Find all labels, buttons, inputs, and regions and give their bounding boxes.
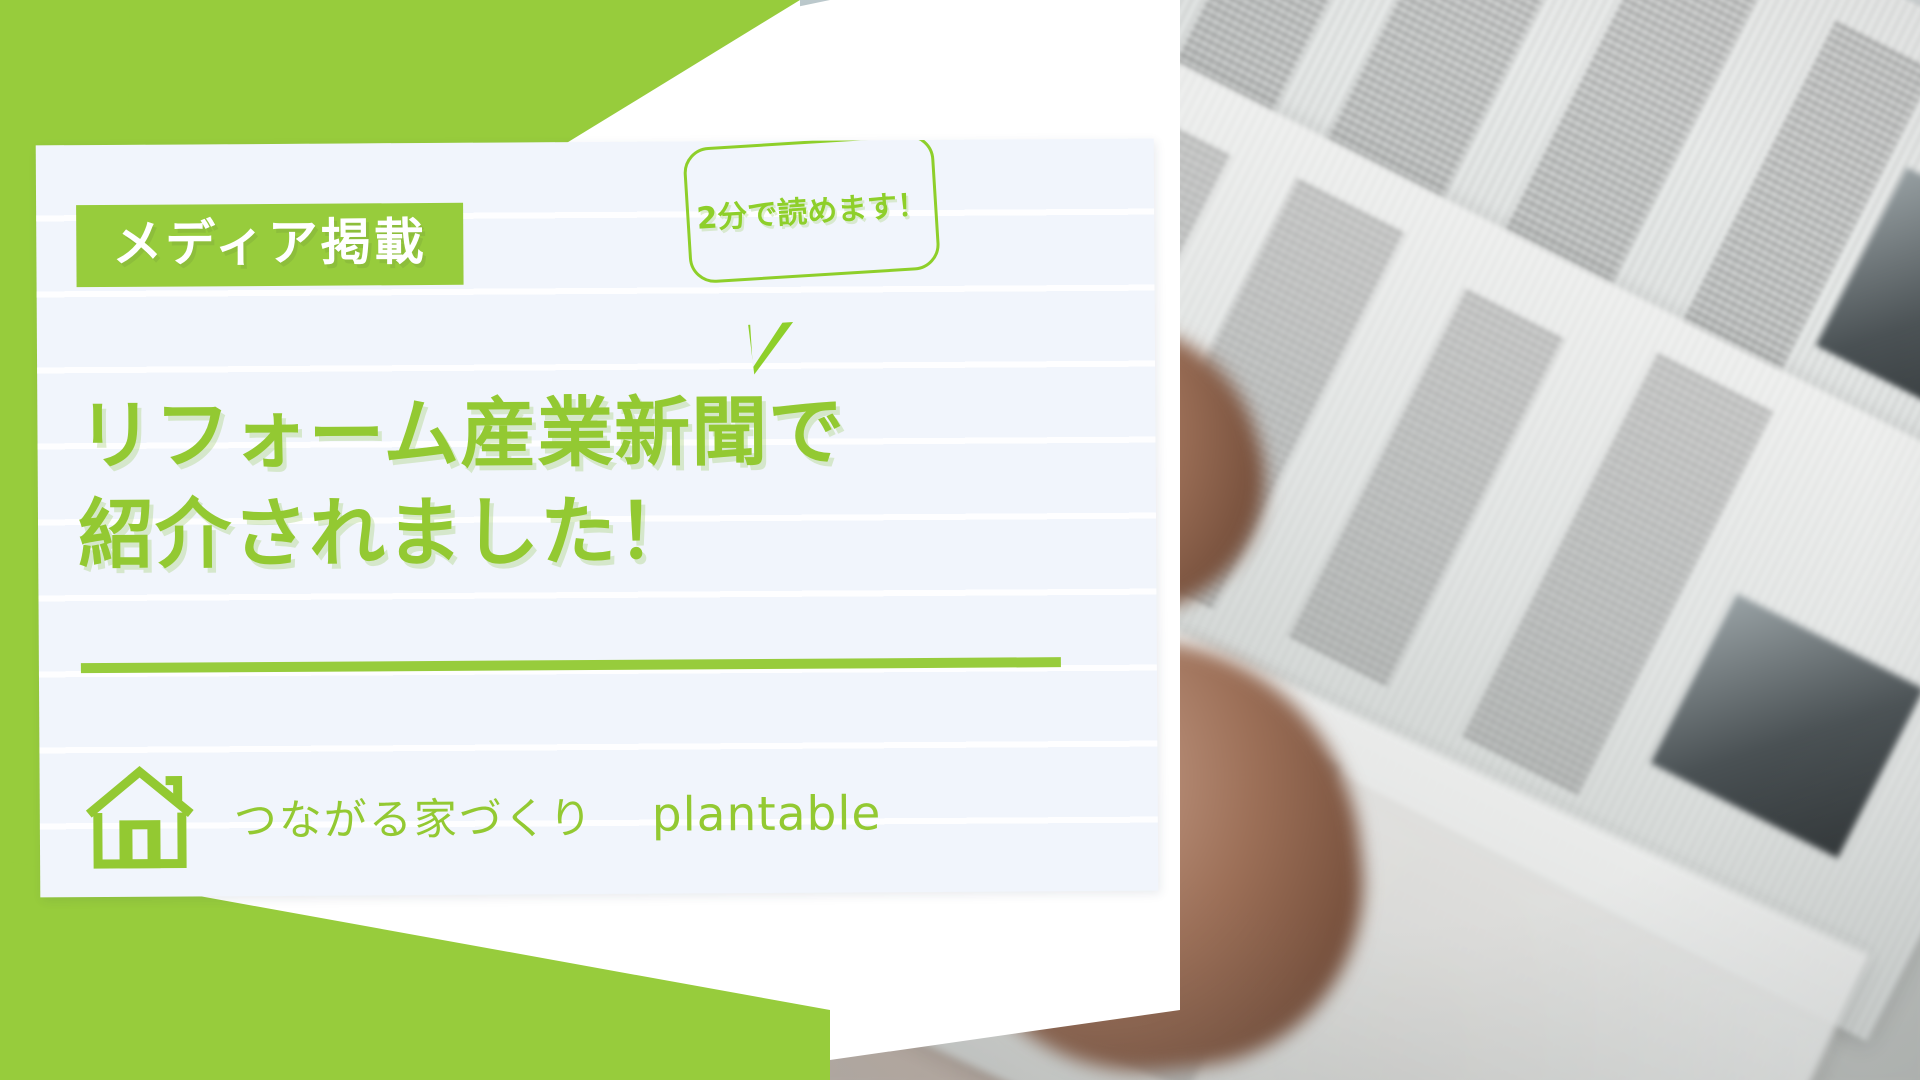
- media-feature-badge: メディア掲載: [76, 203, 463, 287]
- brand-logo-row: つながる家づくり plantable: [84, 760, 882, 871]
- page-title-line-1: リフォーム産業新聞で: [77, 382, 845, 485]
- brand-tagline: つながる家づくり: [234, 784, 594, 848]
- media-feature-badge-label: メディア掲載: [112, 213, 427, 273]
- poster-canvas: メディア掲載 2分で読めます！ リフォーム産業新聞で 紹介されました！: [0, 0, 1920, 1080]
- house-icon: [84, 764, 197, 871]
- read-time-label: 2分で読めます！: [688, 179, 935, 238]
- page-title-line-2: 紹介されました！: [78, 481, 846, 584]
- lined-note-card: メディア掲載 2分で読めます！ リフォーム産業新聞で 紹介されました！: [36, 139, 1159, 898]
- brand-name: plantable: [652, 786, 882, 842]
- page-title: リフォーム産業新聞で 紹介されました！: [77, 382, 846, 584]
- speech-bubble-icon: 2分で読めます！: [682, 139, 941, 285]
- green-divider-rule: [81, 657, 1061, 673]
